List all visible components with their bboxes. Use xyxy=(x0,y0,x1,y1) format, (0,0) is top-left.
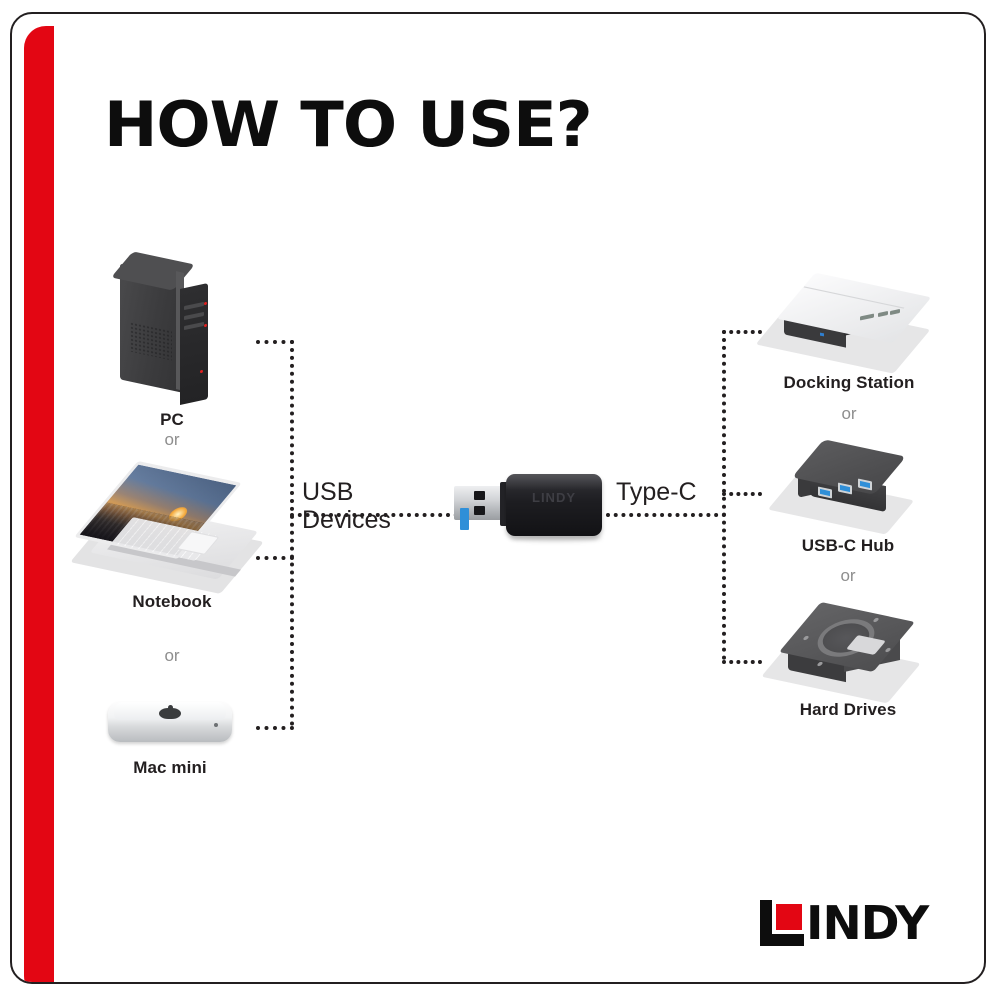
or-separator-right-1: or xyxy=(766,404,932,424)
page-title: HOW TO USE? xyxy=(104,88,592,161)
adapter-brand-label: LINDY xyxy=(518,490,590,505)
adapter-body xyxy=(506,474,602,536)
left-connector-bus xyxy=(290,340,294,726)
hard-drive-icon xyxy=(778,606,918,698)
right-stub-hard-drives xyxy=(722,660,762,664)
connection-label-type-c: Type-C xyxy=(616,478,697,506)
or-separator-left-2: or xyxy=(88,646,256,666)
lindy-logo: INDY xyxy=(760,900,926,946)
target-label-hard-drives: Hard Drives xyxy=(778,700,918,720)
poster-canvas: HOW TO USE? PC or Notebook xyxy=(0,0,1000,1000)
docking-station-icon xyxy=(774,275,924,367)
mac-mini-icon xyxy=(108,696,232,750)
target-label-usb-c-hub: USB-C Hub xyxy=(780,536,916,556)
usb-hub-icon xyxy=(782,442,914,534)
target-label-docking-station: Docking Station xyxy=(766,373,932,393)
or-separator-right-2: or xyxy=(780,566,916,586)
target-node-hard-drives: Hard Drives xyxy=(778,606,918,720)
usb-adapter-icon: LINDY xyxy=(448,470,608,560)
right-stub-to-adapter xyxy=(606,513,726,517)
lindy-l-mark-icon xyxy=(760,900,804,946)
accent-bar xyxy=(24,26,54,984)
desktop-tower-icon xyxy=(120,252,224,404)
source-node-notebook: Notebook xyxy=(88,470,256,612)
left-stub-mac-mini xyxy=(256,726,294,730)
source-label-mac-mini: Mac mini xyxy=(108,758,232,778)
source-label-notebook: Notebook xyxy=(88,592,256,612)
lindy-wordmark: INDY xyxy=(806,900,928,946)
source-node-pc: PC xyxy=(92,252,252,430)
right-stub-dock xyxy=(722,330,762,334)
laptop-icon xyxy=(92,470,252,588)
target-node-usb-c-hub: USB-C Hub xyxy=(780,442,916,556)
right-stub-hub xyxy=(722,492,762,496)
source-label-pc: PC xyxy=(92,410,252,430)
target-node-docking-station: Docking Station xyxy=(766,275,932,393)
left-stub-notebook xyxy=(256,556,294,560)
left-stub-pc xyxy=(256,340,294,344)
source-node-mac-mini: Mac mini xyxy=(108,696,232,778)
connection-label-usb-devices: USB Devices xyxy=(302,478,391,534)
or-separator-left-1: or xyxy=(92,430,252,450)
